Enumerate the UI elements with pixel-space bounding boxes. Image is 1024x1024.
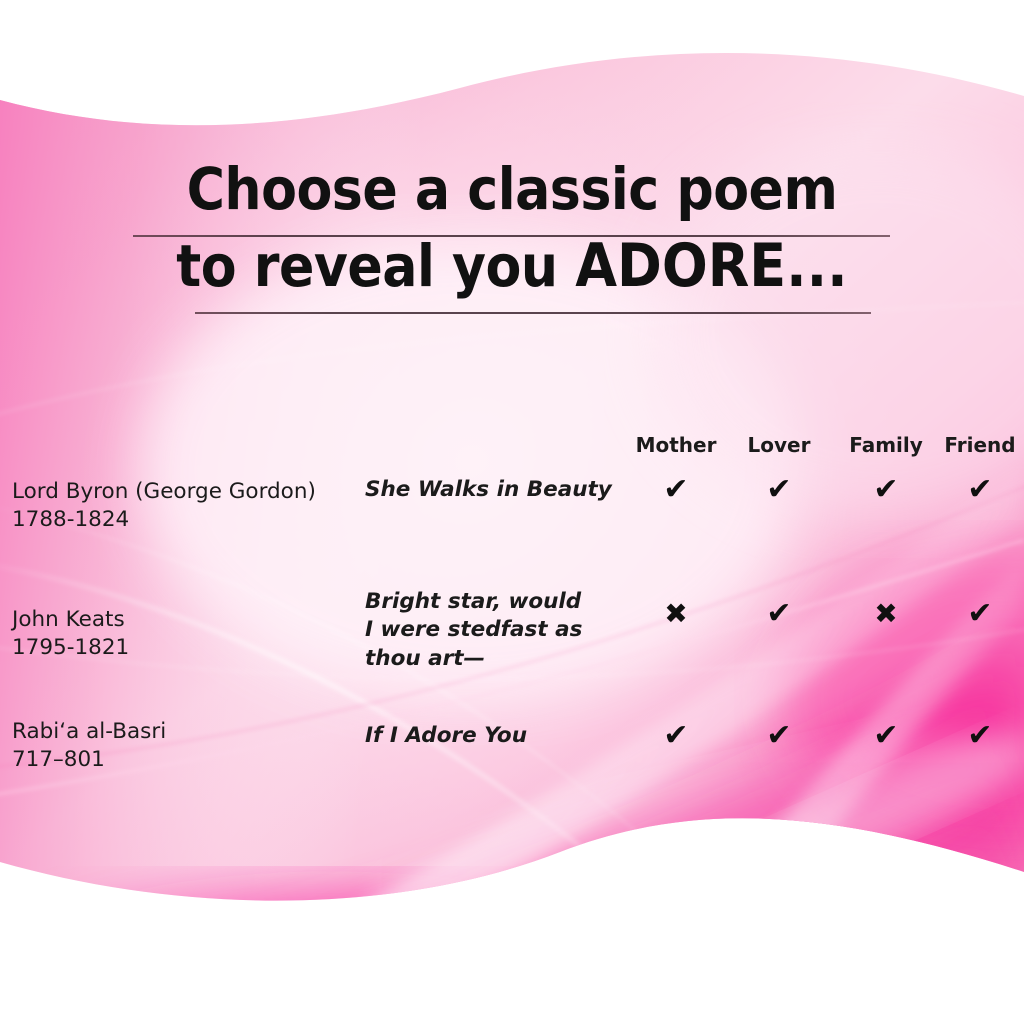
column-header-friend: Friend [944, 433, 1015, 457]
check-icon: ✔ [967, 599, 992, 629]
check-icon: ✔ [663, 475, 688, 505]
check-icon: ✔ [766, 475, 791, 505]
poet-dates: 717–801 [12, 746, 166, 774]
poem-title: Bright star, wouldI were stedfast asthou… [365, 588, 582, 673]
poem-title-line: If I Adore You [365, 722, 527, 750]
poet-dates: 1795-1821 [12, 634, 129, 662]
poet-dates: 1788-1824 [12, 506, 316, 534]
poem-table: MotherLoverFamilyFriendLord Byron (Georg… [0, 0, 1024, 1024]
cross-icon: ✖ [664, 600, 687, 628]
column-header-family: Family [849, 433, 923, 457]
check-icon: ✔ [766, 599, 791, 629]
check-icon: ✔ [967, 721, 992, 751]
column-header-lover: Lover [748, 433, 811, 457]
check-icon: ✔ [873, 475, 898, 505]
poet-name: John Keats [12, 606, 129, 634]
cross-icon: ✖ [874, 600, 897, 628]
poet-name: Lord Byron (George Gordon) [12, 478, 316, 506]
poet-name-and-dates: Rabiʻa al-Basri717–801 [12, 718, 166, 775]
check-icon: ✔ [967, 475, 992, 505]
poster-canvas: Choose a classic poem to reveal you ADOR… [0, 0, 1024, 1024]
poet-name: Rabiʻa al-Basri [12, 718, 166, 746]
poem-title-line: Bright star, would [365, 588, 582, 616]
poem-title-line: thou art— [365, 645, 582, 673]
poet-name-and-dates: John Keats1795-1821 [12, 606, 129, 663]
poem-title: If I Adore You [365, 722, 527, 750]
check-icon: ✔ [873, 721, 898, 751]
poem-title-line: I were stedfast as [365, 616, 582, 644]
poem-title: She Walks in Beauty [365, 476, 612, 504]
check-icon: ✔ [663, 721, 688, 751]
poet-name-and-dates: Lord Byron (George Gordon)1788-1824 [12, 478, 316, 535]
column-header-mother: Mother [636, 433, 717, 457]
poem-title-line: She Walks in Beauty [365, 476, 612, 504]
check-icon: ✔ [766, 721, 791, 751]
